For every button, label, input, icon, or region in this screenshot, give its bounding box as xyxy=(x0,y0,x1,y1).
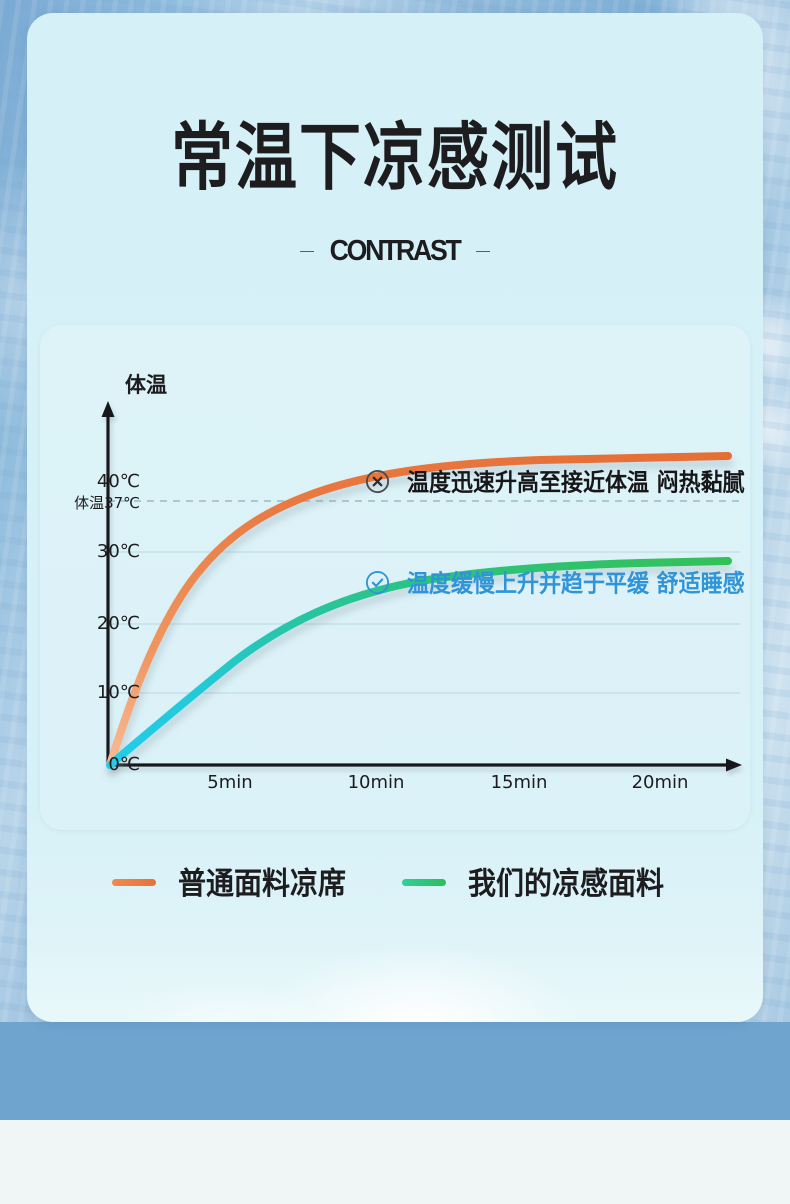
annotation-ordinary-text: 温度迅速升高至接近体温 闷热黏腻 xyxy=(407,464,745,499)
legend-item-cooling: 我们的凉感面料 xyxy=(402,862,664,902)
legend-swatch-cooling xyxy=(402,879,446,886)
annotation-ordinary-fabric: 温度迅速升高至接近体温 闷热黏腻 xyxy=(365,465,745,497)
y-tick-37: 体温37℃ xyxy=(74,492,140,513)
legend-swatch-ordinary xyxy=(112,879,156,886)
circle-check-icon xyxy=(365,570,390,595)
chart-legend: 普通面料凉席 我们的凉感面料 xyxy=(27,862,763,902)
background-lower-band xyxy=(0,1022,790,1120)
legend-item-ordinary: 普通面料凉席 xyxy=(112,862,346,902)
subtitle-row: CONTRAST xyxy=(27,235,763,268)
y-tick-10: 10℃ xyxy=(97,682,140,703)
legend-label-cooling: 我们的凉感面料 xyxy=(468,860,664,904)
subtitle-text: CONTRAST xyxy=(330,235,460,268)
series-line-ordinary xyxy=(110,456,728,765)
x-tick-10min: 10min xyxy=(348,772,405,793)
legend-label-ordinary: 普通面料凉席 xyxy=(178,860,346,904)
y-tick-20: 20℃ xyxy=(97,613,140,634)
y-tick-30: 30℃ xyxy=(97,541,140,562)
y-axis-tick-labels: 40℃ 体温37℃ 30℃ 20℃ 10℃ 0℃ xyxy=(40,325,140,830)
y-tick-40: 40℃ xyxy=(97,471,140,492)
annotation-cooling-fabric: 温度缓慢上升并趋于平缓 舒适睡感 xyxy=(365,566,745,598)
page-bottom-strip xyxy=(0,1120,790,1204)
x-tick-15min: 15min xyxy=(491,772,548,793)
circle-cross-icon xyxy=(365,469,390,494)
subtitle-dash-left xyxy=(300,251,314,253)
subtitle-dash-right xyxy=(476,251,490,253)
annotation-cooling-text: 温度缓慢上升并趋于平缓 舒适睡感 xyxy=(407,565,745,600)
page-title: 常温下凉感测试 xyxy=(27,121,763,194)
x-tick-20min: 20min xyxy=(632,772,689,793)
x-tick-5min: 5min xyxy=(207,772,252,793)
y-tick-0: 0℃ xyxy=(108,754,140,775)
